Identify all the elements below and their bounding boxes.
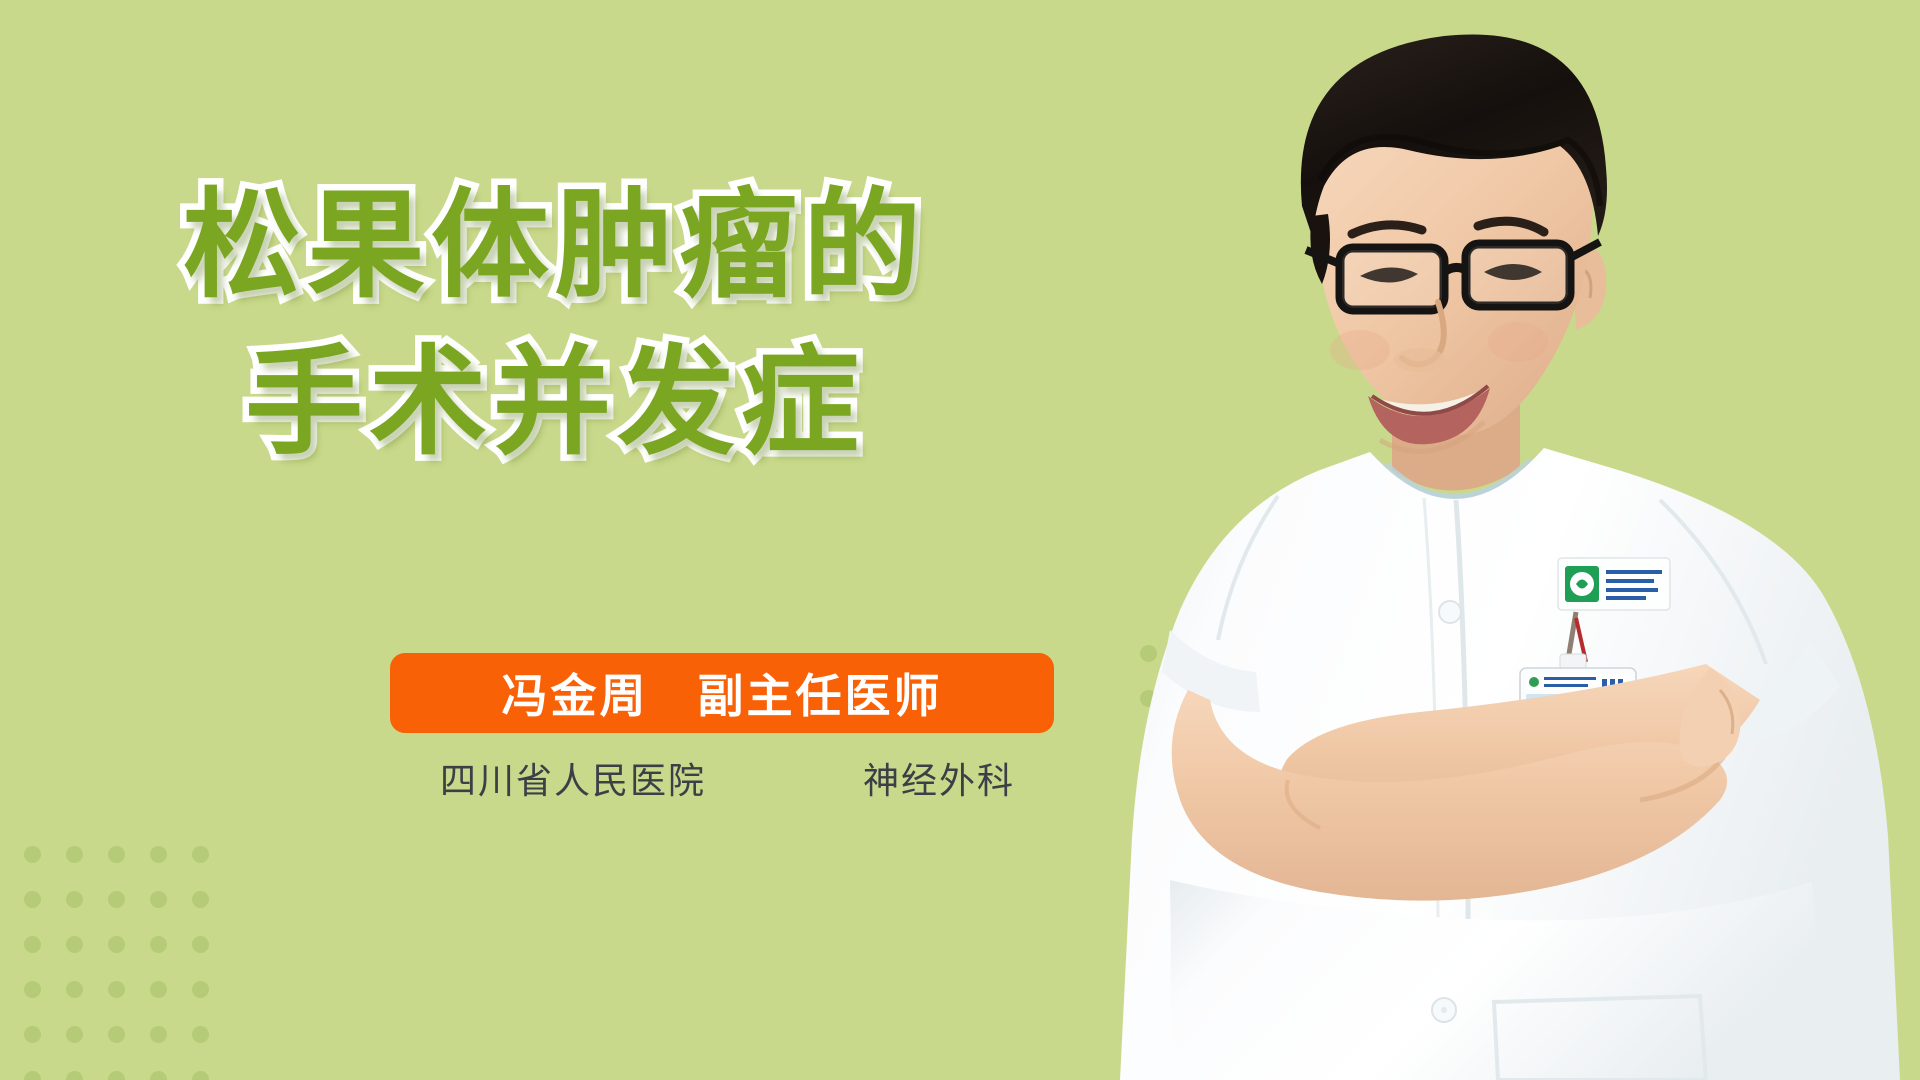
decorative-dot <box>192 1026 209 1043</box>
title-line-2: 手术并发症 <box>0 325 1110 482</box>
hospital-logo-patch <box>1558 558 1670 610</box>
decorative-dot <box>150 1071 167 1080</box>
decorative-dot <box>24 891 41 908</box>
decorative-dot <box>108 1026 125 1043</box>
department-label: 神经外科 <box>863 752 1015 804</box>
decorative-dot <box>24 1026 41 1043</box>
decorative-dot <box>192 981 209 998</box>
decorative-dot <box>108 936 125 953</box>
decorative-dot <box>66 891 83 908</box>
decorative-dot <box>24 936 41 953</box>
doctor-portrait <box>1020 0 1920 1080</box>
decorative-dot <box>192 891 209 908</box>
thumbnail-canvas: 松果体肿瘤的 手术并发症 冯金周 副主任医师 四川省人民医院 神经外科 <box>0 0 1920 1080</box>
decorative-dot-grid-left <box>0 846 282 1080</box>
decorative-dot <box>24 981 41 998</box>
decorative-dot <box>150 846 167 863</box>
decorative-dot <box>66 936 83 953</box>
decorative-dot <box>66 981 83 998</box>
decorative-dot <box>150 936 167 953</box>
decorative-dot <box>108 1071 125 1080</box>
title-line-1: 松果体肿瘤的 <box>0 168 1110 325</box>
decorative-dot <box>24 846 41 863</box>
decorative-dot <box>150 1026 167 1043</box>
doctor-name-badge: 冯金周 副主任医师 <box>390 653 1054 733</box>
decorative-dot <box>150 891 167 908</box>
affiliation-row: 四川省人民医院 神经外科 <box>390 752 1060 804</box>
decorative-dot <box>192 936 209 953</box>
decorative-dot <box>66 1026 83 1043</box>
decorative-dot <box>150 981 167 998</box>
decorative-dot <box>24 1071 41 1080</box>
decorative-dot <box>66 846 83 863</box>
doctor-name-label: 冯金周 副主任医师 <box>502 660 943 726</box>
decorative-dot <box>108 981 125 998</box>
decorative-dot <box>66 1071 83 1080</box>
decorative-dot <box>192 1071 209 1080</box>
decorative-dot <box>108 891 125 908</box>
video-title: 松果体肿瘤的 手术并发症 <box>0 168 1110 482</box>
decorative-dot <box>108 846 125 863</box>
decorative-dot <box>192 846 209 863</box>
hospital-label: 四川省人民医院 <box>440 752 706 804</box>
